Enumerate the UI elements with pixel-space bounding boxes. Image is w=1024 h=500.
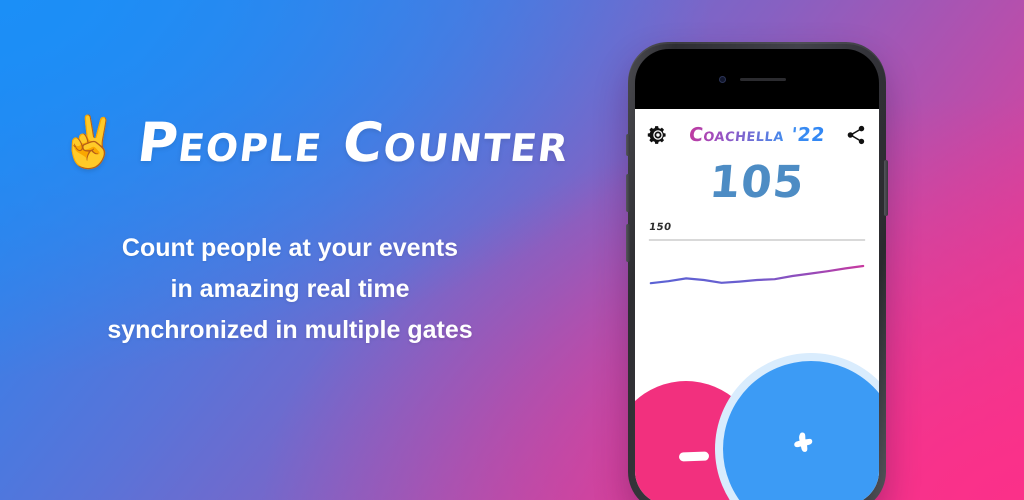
tagline-line-1: Count people at your events	[0, 228, 580, 269]
speaker-grille-icon	[740, 78, 786, 81]
history-chart: 150	[647, 222, 867, 314]
phone-screen-bezel: Coachella '22 105 150	[635, 49, 879, 500]
tagline-line-3: synchronized in multiple gates	[0, 310, 580, 351]
plus-icon	[786, 430, 820, 464]
app-header: Coachella '22	[635, 109, 879, 161]
chart-line	[651, 266, 863, 283]
volume-down-button[interactable]	[626, 224, 630, 262]
event-name-label: Coachella '22	[688, 124, 826, 146]
app-title-row: ✌️ People Counter	[58, 104, 570, 180]
increment-button[interactable]	[723, 361, 879, 500]
tagline: Count people at your events in amazing r…	[0, 228, 580, 351]
share-button[interactable]	[845, 124, 867, 146]
settings-gear-button[interactable]	[647, 124, 669, 146]
power-button[interactable]	[884, 160, 888, 216]
volume-up-button[interactable]	[626, 174, 630, 212]
promo-banner: ✌️ People Counter Count people at your e…	[0, 0, 1024, 500]
page-title: People Counter	[134, 111, 573, 174]
counter-buttons	[635, 323, 879, 500]
counter-value: 105	[635, 157, 879, 208]
increment-button-halo	[715, 353, 879, 500]
chart-svg	[647, 222, 867, 314]
promo-text-block: ✌️ People Counter Count people at your e…	[0, 0, 600, 500]
phone-top-bezel	[635, 49, 879, 109]
gear-icon	[647, 124, 669, 146]
camera-dot-icon	[719, 76, 726, 83]
tagline-line-2: in amazing real time	[0, 269, 580, 310]
minus-icon	[679, 451, 709, 461]
mute-switch-button[interactable]	[626, 134, 630, 156]
share-icon	[845, 124, 867, 146]
victory-hand-icon: ✌️	[58, 117, 120, 167]
phone-mockup: Coachella '22 105 150	[628, 42, 886, 500]
app-screen: Coachella '22 105 150	[635, 109, 879, 500]
